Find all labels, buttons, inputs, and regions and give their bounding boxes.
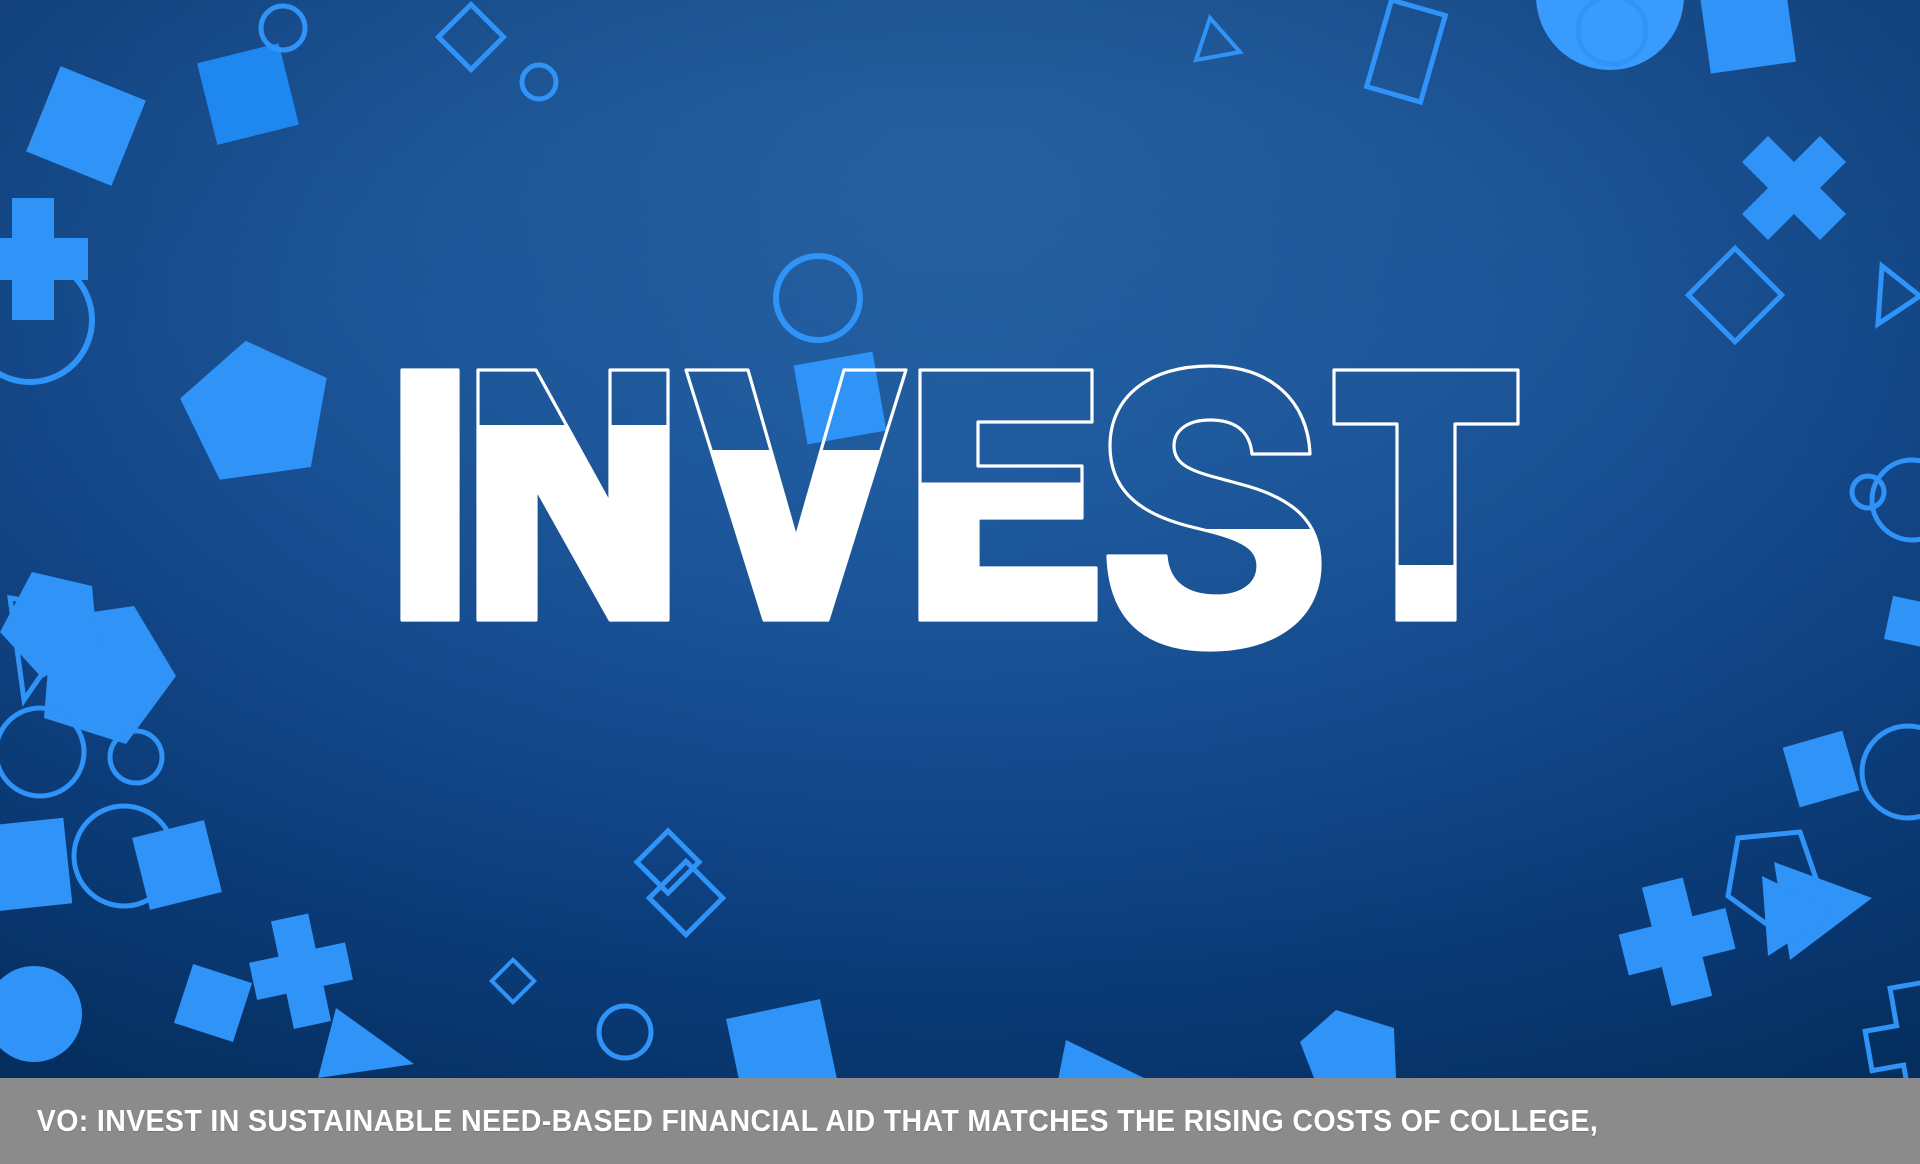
headline-letter-E [920,370,1096,620]
slide-canvas: VO: INVEST IN SUSTAINABLE NEED-BASED FIN… [0,0,1920,1164]
headline-invest [390,362,1530,620]
headline-letter-I [402,370,458,620]
headline-letter-S [1108,366,1320,650]
caption-bar: VO: INVEST IN SUSTAINABLE NEED-BASED FIN… [0,1078,1920,1164]
headline-letter-V [686,370,906,620]
headline-container [0,0,1920,1078]
headline-letter-T [1334,370,1518,620]
headline-letter-N [478,370,668,620]
caption-text: VO: INVEST IN SUSTAINABLE NEED-BASED FIN… [0,1103,1598,1139]
